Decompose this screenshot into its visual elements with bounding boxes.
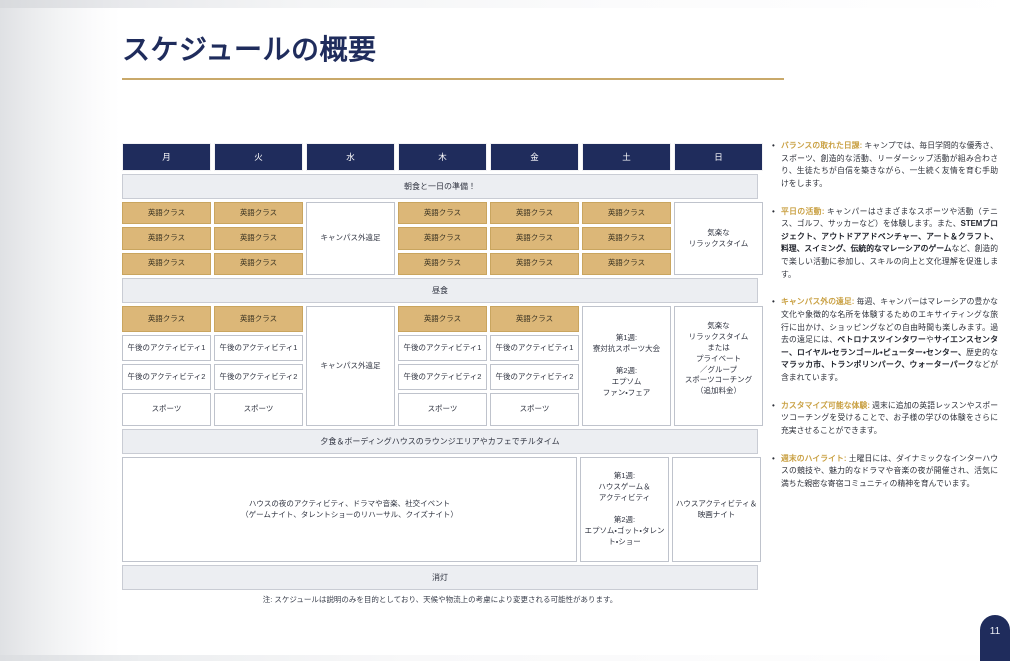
bullet-heading: 週末のハイライト: [781, 454, 846, 463]
day-header-wed: 水 [306, 143, 395, 171]
day-header-tue: 火 [214, 143, 303, 171]
bullet-text: バランスの取れた日課: キャンプでは、毎日学問的な優秀さ、スポーツ、創造的な活動… [781, 140, 998, 191]
bullet-marker-icon: • [772, 140, 781, 191]
afternoon-thu: 英語クラス 午後のアクティビティ1 午後のアクティビティ2 スポーツ [398, 306, 487, 426]
bullet-text: 平日の活動: キャンパーはさまざまなスポーツや活動（テニス、ゴルフ、サッカーなど… [781, 206, 998, 282]
afternoon-sat-event: 第1週: 寮対抗スポーツ大会 第2週: エプソム ファン・フェア [582, 306, 671, 426]
morning-tue-1: 英語クラス [214, 202, 303, 224]
afternoon-tue-activity1: 午後のアクティビティ1 [214, 335, 303, 361]
bullet-heading: キャンパス外の遠足: [781, 297, 854, 306]
bullet-item-weekend-highlights: • 週末のハイライト: 土曜日には、ダイナミックなインターハウスの競技や、魅力的… [772, 453, 998, 491]
afternoon-mon-sports: スポーツ [122, 393, 211, 426]
afternoon-tue-english: 英語クラス [214, 306, 303, 332]
slide: スケジュールの概要 月 火 水 木 金 土 日 朝食と一日の準備！ 英語ク [0, 0, 1024, 661]
bullet-item-offcampus-excursions: • キャンパス外の遠足: 毎週、キャンパーはマレーシアの豊かな文化や象徴的な名所… [772, 296, 998, 384]
bullet-text: 週末のハイライト: 土曜日には、ダイナミックなインターハウスの競技や、魅力的なド… [781, 453, 998, 491]
morning-sun-relax: 気楽な リラックスタイム [674, 202, 763, 275]
afternoon-thu-sports: スポーツ [398, 393, 487, 426]
afternoon-fri: 英語クラス 午後のアクティビティ1 午後のアクティビティ2 スポーツ [490, 306, 579, 426]
morning-wed-excursion: キャンパス外遠足 [306, 202, 395, 275]
afternoon-tue-sports: スポーツ [214, 393, 303, 426]
afternoon-mon-activity1: 午後のアクティビティ1 [122, 335, 211, 361]
evening-sun-event: ハウスアクティビティ＆ 映画ナイト [672, 457, 761, 562]
bullet-body-3: 歴史的な [966, 348, 998, 357]
afternoon-wed-excursion: キャンパス外遠足 [306, 306, 395, 426]
afternoon-thu-activity1: 午後のアクティビティ1 [398, 335, 487, 361]
afternoon-tue: 英語クラス 午後のアクティビティ1 午後のアクティビティ2 スポーツ [214, 306, 303, 426]
bullet-item-balanced-routine: • バランスの取れた日課: キャンプでは、毎日学問的な優秀さ、スポーツ、創造的な… [772, 140, 998, 191]
slide-left-gradient [0, 0, 120, 661]
morning-block: 英語クラス 英語クラス 英語クラス 英語クラス 英語クラス 英語クラス キャンパ… [122, 202, 758, 275]
bullet-text: キャンパス外の遠足: 毎週、キャンパーはマレーシアの豊かな文化や象徴的な名所を体… [781, 296, 998, 384]
morning-tue: 英語クラス 英語クラス 英語クラス [214, 202, 303, 275]
morning-thu: 英語クラス 英語クラス 英語クラス [398, 202, 487, 275]
bullet-item-customisable-experience: • カスタマイズ可能な体験: 週末に追加の英語レッスンやスポーツコーチングを受け… [772, 400, 998, 438]
title-block: スケジュールの概要 [122, 34, 782, 80]
day-header-fri: 金 [490, 143, 579, 171]
morning-mon: 英語クラス 英語クラス 英語クラス [122, 202, 211, 275]
afternoon-fri-english: 英語クラス [490, 306, 579, 332]
morning-fri-2: 英語クラス [490, 227, 579, 249]
morning-sat-3: 英語クラス [582, 253, 671, 275]
afternoon-fri-sports: スポーツ [490, 393, 579, 426]
morning-sat-2: 英語クラス [582, 227, 671, 249]
dinner-row: 夕食＆ボーディングハウスのラウンジエリアやカフェでチルタイム [122, 429, 758, 454]
morning-thu-1: 英語クラス [398, 202, 487, 224]
morning-sat-1: 英語クラス [582, 202, 671, 224]
day-header-thu: 木 [398, 143, 487, 171]
page-title: スケジュールの概要 [122, 34, 782, 66]
bullet-bold-1: ペトロナスツインタワー [837, 335, 926, 344]
lunch-row: 昼食 [122, 278, 758, 303]
afternoon-mon: 英語クラス 午後のアクティビティ1 午後のアクティビティ2 スポーツ [122, 306, 211, 426]
schedule-footnote: 注: スケジュールは説明のみを目的としており、天候や物流上の考慮により変更される… [122, 595, 758, 606]
bullet-text: カスタマイズ可能な体験: 週末に追加の英語レッスンやスポーツコーチングを受けるこ… [781, 400, 998, 438]
afternoon-sun-relax: 気楽な リラックスタイム または プライベート ／グループ スポーツコーチング … [674, 306, 763, 426]
afternoon-thu-activity2: 午後のアクティビティ2 [398, 364, 487, 390]
bullet-marker-icon: • [772, 400, 781, 438]
bullet-heading: バランスの取れた日課: [781, 141, 862, 150]
bullet-marker-icon: • [772, 296, 781, 384]
bullet-body-2: や [926, 335, 934, 344]
afternoon-mon-english: 英語クラス [122, 306, 211, 332]
morning-mon-1: 英語クラス [122, 202, 211, 224]
day-header-row: 月 火 水 木 金 土 日 [122, 143, 758, 171]
morning-tue-3: 英語クラス [214, 253, 303, 275]
morning-mon-3: 英語クラス [122, 253, 211, 275]
breakfast-band: 朝食と一日の準備！ [122, 174, 758, 199]
bullet-list: • バランスの取れた日課: キャンプでは、毎日学問的な優秀さ、スポーツ、創造的な… [772, 140, 998, 505]
slide-bottom-edge [0, 655, 1024, 661]
morning-thu-3: 英語クラス [398, 253, 487, 275]
bullet-heading: カスタマイズ可能な体験: [781, 401, 870, 410]
bullet-bold-3: マラッカ市、トランポリンパーク、ウォーターパーク [781, 360, 974, 369]
breakfast-row: 朝食と一日の準備！ [122, 174, 758, 199]
afternoon-thu-english: 英語クラス [398, 306, 487, 332]
morning-fri-3: 英語クラス [490, 253, 579, 275]
morning-mon-2: 英語クラス [122, 227, 211, 249]
morning-fri-1: 英語クラス [490, 202, 579, 224]
day-header-mon: 月 [122, 143, 211, 171]
lunch-band: 昼食 [122, 278, 758, 303]
title-underline-rule [122, 78, 784, 80]
morning-thu-2: 英語クラス [398, 227, 487, 249]
day-header-sat: 土 [582, 143, 671, 171]
lights-out-row: 消灯 [122, 565, 758, 590]
afternoon-block: 英語クラス 午後のアクティビティ1 午後のアクティビティ2 スポーツ 英語クラス… [122, 306, 758, 426]
schedule-table: 月 火 水 木 金 土 日 朝食と一日の準備！ 英語クラス 英語クラス 英語クラ… [122, 143, 758, 606]
dinner-band: 夕食＆ボーディングハウスのラウンジエリアやカフェでチルタイム [122, 429, 758, 454]
day-header-sun: 日 [674, 143, 763, 171]
morning-tue-2: 英語クラス [214, 227, 303, 249]
afternoon-fri-activity2: 午後のアクティビティ2 [490, 364, 579, 390]
morning-sat: 英語クラス 英語クラス 英語クラス [582, 202, 671, 275]
bullet-marker-icon: • [772, 206, 781, 282]
evening-weekday-activities: ハウスの夜のアクティビティ、ドラマや音楽、社交イベント （ゲームナイト、タレント… [122, 457, 577, 562]
page-number-badge: 11 [980, 615, 1010, 661]
afternoon-fri-activity1: 午後のアクティビティ1 [490, 335, 579, 361]
afternoon-mon-activity2: 午後のアクティビティ2 [122, 364, 211, 390]
bullet-item-weekday-activities: • 平日の活動: キャンパーはさまざまなスポーツや活動（テニス、ゴルフ、サッカー… [772, 206, 998, 282]
afternoon-tue-activity2: 午後のアクティビティ2 [214, 364, 303, 390]
slide-top-edge [0, 0, 1024, 8]
evening-block: ハウスの夜のアクティビティ、ドラマや音楽、社交イベント （ゲームナイト、タレント… [122, 457, 758, 562]
bullet-heading: 平日の活動: [781, 207, 824, 216]
bullet-marker-icon: • [772, 453, 781, 491]
evening-sat-event: 第1週: ハウスゲーム＆ アクティビティ 第2週: エプソム・ゴット・タレント・… [580, 457, 669, 562]
morning-fri: 英語クラス 英語クラス 英語クラス [490, 202, 579, 275]
lights-out-band: 消灯 [122, 565, 758, 590]
